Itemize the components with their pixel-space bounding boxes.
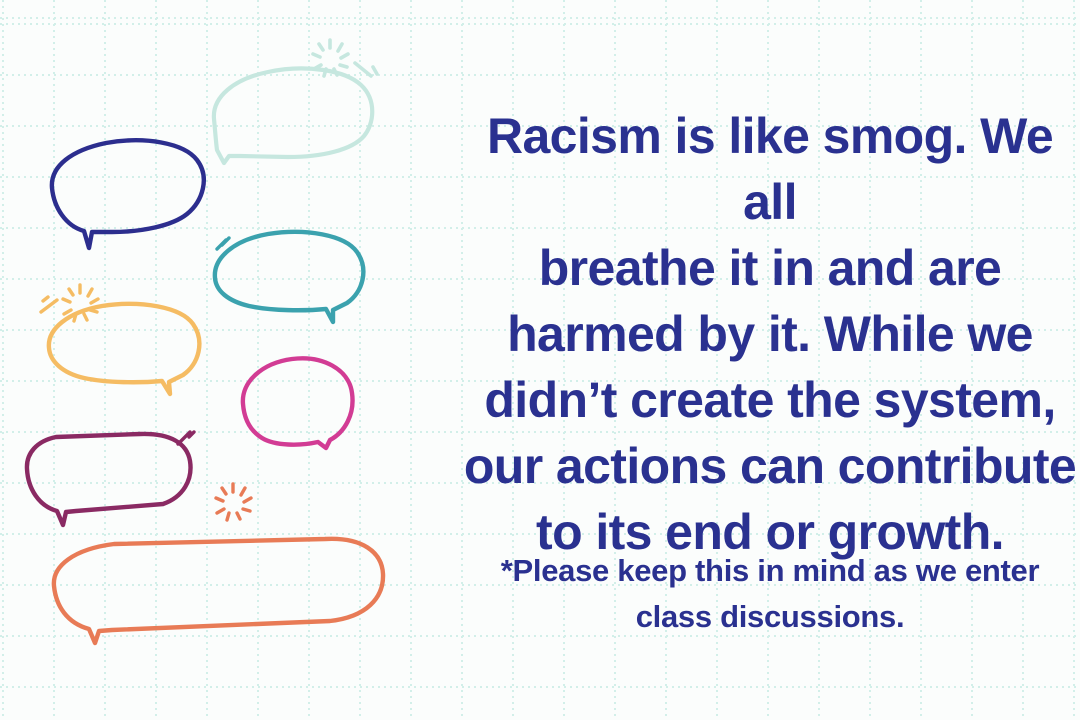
slide-canvas: Racism is like smog. We all breathe it i… <box>0 0 1080 720</box>
speech-bubble-plum <box>27 434 191 525</box>
motion-dash-mint <box>355 63 377 76</box>
speech-bubble-mint <box>214 68 372 163</box>
quote-text-panel: Racism is like smog. We all breathe it i… <box>460 0 1080 720</box>
sparkle-coral <box>216 484 251 520</box>
motion-dash-sand <box>41 297 57 312</box>
speech-bubble-teal <box>215 232 363 322</box>
motion-dash-teal <box>217 238 229 249</box>
motion-dash-plum <box>178 432 194 444</box>
speech-bubble-coral <box>54 539 383 643</box>
quote-footnote: *Please keep this in mind as we enter cl… <box>460 548 1080 640</box>
quote-body: Racism is like smog. We all breathe it i… <box>460 103 1080 565</box>
speech-bubble-pink <box>243 358 353 448</box>
speech-bubble-sand <box>49 304 199 394</box>
speech-bubble-navy <box>52 140 204 248</box>
speech-bubble-illustration <box>0 0 440 720</box>
